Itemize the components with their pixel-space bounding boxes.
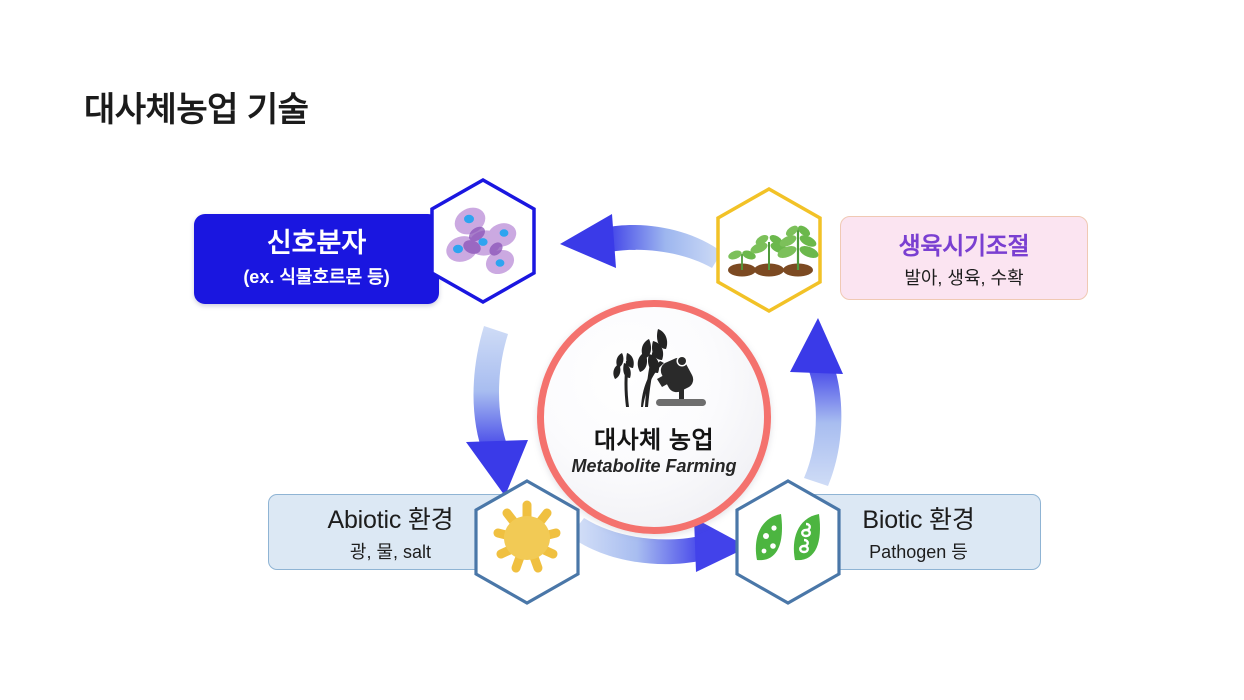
- node-box-growth-stage-control[interactable]: 생육시기조절 발아, 생육, 수확: [840, 216, 1088, 300]
- hex-abiotic-environment[interactable]: [472, 478, 582, 606]
- node-title-biotic-environment: Biotic 환경: [862, 500, 974, 536]
- arrow-growth-to-signal: [560, 214, 722, 268]
- page-title: 대사체농업 기술: [84, 82, 308, 131]
- node-subtitle-biotic-environment: Pathogen 등: [869, 538, 968, 564]
- metabolite-farming-core[interactable]: 대사체 농업 Metabolite Farming: [537, 300, 771, 534]
- center-title-korean: 대사체 농업: [594, 420, 714, 455]
- node-title-abiotic-environment: Abiotic 환경: [328, 500, 454, 536]
- node-subtitle-growth-stage-control: 발아, 생육, 수확: [904, 264, 1023, 290]
- center-title-english: Metabolite Farming: [571, 456, 736, 477]
- node-title-growth-stage-control: 생육시기조절: [899, 226, 1030, 261]
- node-subtitle-abiotic-environment: 광, 물, salt: [350, 538, 431, 564]
- hex-signal-molecule[interactable]: [428, 177, 538, 305]
- arrow-biotic-to-growth: [790, 318, 843, 486]
- node-box-signal-molecule[interactable]: 신호분자 (ex. 식물호르몬 등): [194, 214, 439, 304]
- hex-growth-stage-control[interactable]: [714, 186, 824, 314]
- node-subtitle-signal-molecule: (ex. 식물호르몬 등): [243, 263, 389, 289]
- node-title-signal-molecule: 신호분자: [267, 229, 366, 257]
- arrow-signal-to-abiotic: [466, 326, 528, 496]
- wheat-microscope-icon: [594, 323, 714, 419]
- hex-biotic-environment[interactable]: [733, 478, 843, 606]
- slide-canvas: 대사체농업 기술: [0, 0, 1244, 700]
- hexagon-outline: [737, 481, 839, 603]
